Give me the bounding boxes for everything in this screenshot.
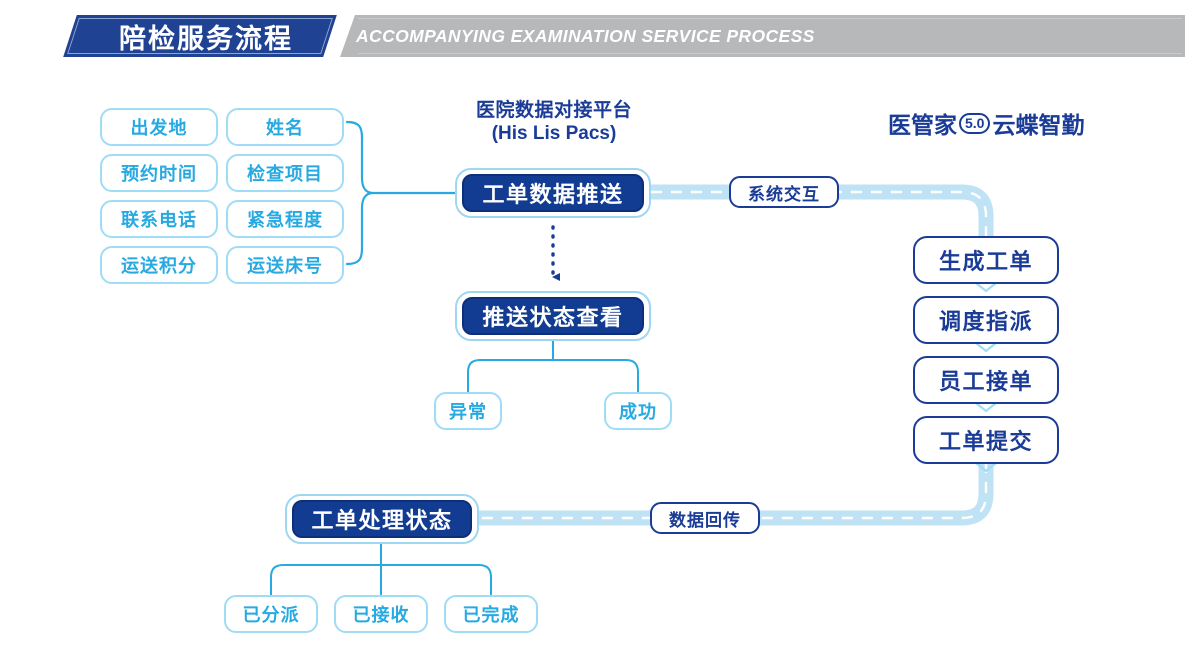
push-status-branch xyxy=(468,341,638,392)
order-pill-received[interactable]: 已接收 xyxy=(334,595,428,633)
flow-diagram-canvas: 陪检服务流程 ACCOMPANYING EXAMINATION SERVICE … xyxy=(0,0,1200,653)
input-pill-label: 紧急程度 xyxy=(247,206,323,232)
order-pill-label: 已完成 xyxy=(463,601,520,627)
connector-label-system-interaction: 系统交互 xyxy=(729,176,839,208)
page-header: 陪检服务流程 ACCOMPANYING EXAMINATION SERVICE … xyxy=(0,0,1200,70)
input-pill-label: 出发地 xyxy=(131,114,188,140)
brand-version-badge: 5.0 xyxy=(959,113,990,134)
input-pill-appointment-time[interactable]: 预约时间 xyxy=(100,154,218,192)
input-pill-name[interactable]: 姓名 xyxy=(226,108,344,146)
connector-label-text: 系统交互 xyxy=(748,180,820,205)
flow-step-staff-accept[interactable]: 员工接单 xyxy=(913,356,1059,404)
input-pill-label: 检查项目 xyxy=(247,160,323,186)
input-pill-departure[interactable]: 出发地 xyxy=(100,108,218,146)
order-pill-assigned[interactable]: 已分派 xyxy=(224,595,318,633)
input-pill-transport-points[interactable]: 运送积分 xyxy=(100,246,218,284)
node-label: 推送状态查看 xyxy=(482,300,623,332)
platform-title-line2: (His Lis Pacs) xyxy=(443,122,665,145)
order-pill-completed[interactable]: 已完成 xyxy=(444,595,538,633)
status-pill-label: 成功 xyxy=(619,398,657,424)
brand-name-part2: 云蝶智勤 xyxy=(992,106,1084,140)
node-push-status[interactable]: 推送状态查看 xyxy=(462,297,644,335)
flow-step-order-submit[interactable]: 工单提交 xyxy=(913,416,1059,464)
flow-step-generate-order[interactable]: 生成工单 xyxy=(913,236,1059,284)
platform-title: 医院数据对接平台 (His Lis Pacs) xyxy=(443,99,665,145)
status-pill-success[interactable]: 成功 xyxy=(604,392,672,430)
input-pill-exam-item[interactable]: 检查项目 xyxy=(226,154,344,192)
input-pill-urgency[interactable]: 紧急程度 xyxy=(226,200,344,238)
input-pill-label: 预约时间 xyxy=(121,160,197,186)
brand-logo: 医管家5.0云蝶智勤 xyxy=(888,108,1084,138)
order-status-branch xyxy=(271,543,491,595)
input-pill-label: 运送积分 xyxy=(121,252,197,278)
flow-step-label: 生成工单 xyxy=(939,244,1033,276)
input-pill-transport-bed[interactable]: 运送床号 xyxy=(226,246,344,284)
order-pill-label: 已接收 xyxy=(353,601,410,627)
order-pill-label: 已分派 xyxy=(243,601,300,627)
node-push-data[interactable]: 工单数据推送 xyxy=(462,174,644,212)
connector-label-text: 数据回传 xyxy=(669,506,741,531)
platform-title-line1: 医院数据对接平台 xyxy=(443,99,665,122)
brand-name-part1: 医管家 xyxy=(888,106,957,140)
input-pill-label: 联系电话 xyxy=(121,206,197,232)
input-pill-contact-phone[interactable]: 联系电话 xyxy=(100,200,218,238)
input-pill-label: 姓名 xyxy=(266,114,304,140)
node-label: 工单处理状态 xyxy=(311,503,452,535)
flow-step-dispatch-assign[interactable]: 调度指派 xyxy=(913,296,1059,344)
node-label: 工单数据推送 xyxy=(482,177,623,209)
flow-step-label: 员工接单 xyxy=(939,364,1033,396)
input-pill-label: 运送床号 xyxy=(247,252,323,278)
input-group-bracket xyxy=(347,122,455,264)
flow-step-label: 调度指派 xyxy=(939,304,1033,336)
page-subtitle: ACCOMPANYING EXAMINATION SERVICE PROCESS xyxy=(356,15,815,57)
page-title: 陪检服务流程 xyxy=(86,16,326,56)
status-pill-abnormal[interactable]: 异常 xyxy=(434,392,502,430)
connector-label-data-return: 数据回传 xyxy=(650,502,760,534)
status-pill-label: 异常 xyxy=(449,398,487,424)
flow-step-label: 工单提交 xyxy=(939,424,1033,456)
node-order-status[interactable]: 工单处理状态 xyxy=(292,500,472,538)
